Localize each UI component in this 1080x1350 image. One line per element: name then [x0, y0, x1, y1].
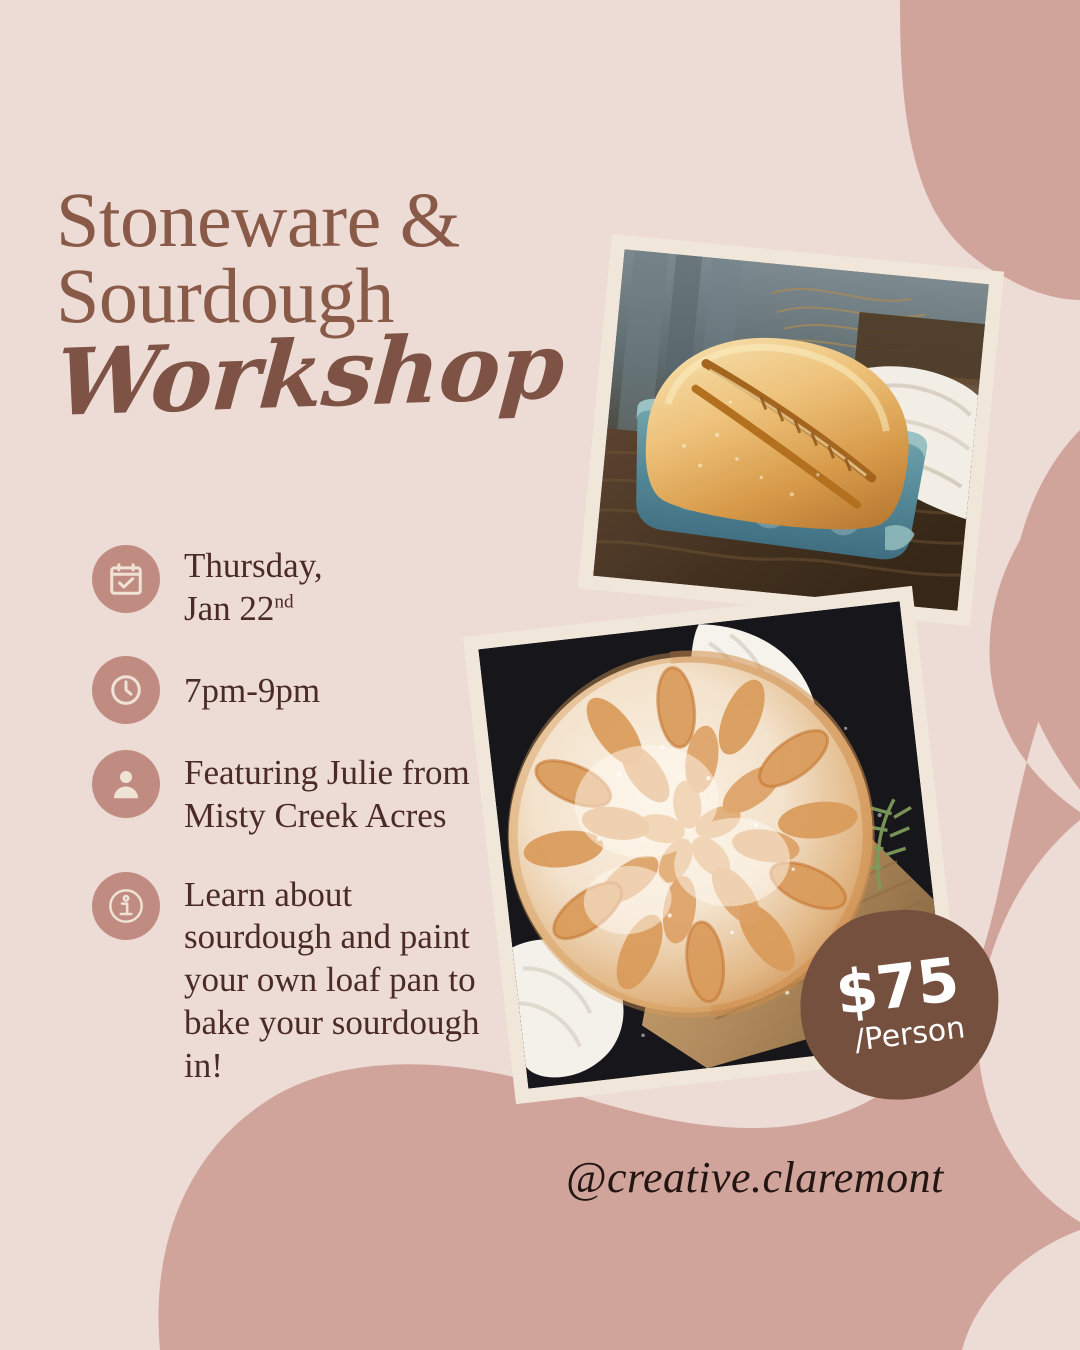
detail-row-info: Learn about sourdough and paint your own…	[92, 872, 522, 1087]
headline-block: Stoneware & Sourdough Workshop	[56, 182, 576, 429]
detail-row-host: Featuring Julie from Misty Creek Acres	[92, 750, 522, 837]
price-badge-text: $75 /Person	[787, 896, 1011, 1111]
detail-host-text: Featuring Julie from Misty Creek Acres	[184, 750, 514, 837]
detail-row-time: 7pm-9pm	[92, 656, 522, 724]
detail-date-day: Jan 22	[184, 589, 274, 628]
detail-date-text: Thursday, Jan 22nd	[184, 545, 323, 630]
bg-sweep-bottom-right-2	[962, 1230, 1080, 1350]
clock-icon	[92, 656, 160, 724]
headline-script-workshop: Workshop	[53, 319, 581, 429]
calendar-check-icon	[92, 545, 160, 613]
photo-loaf-in-stoneware-pan	[578, 234, 1004, 626]
rose-blob-top-right-b	[900, 0, 1080, 291]
photo-loaf-in-stoneware-pan-image	[593, 249, 989, 611]
detail-date-line-1: Thursday,	[184, 545, 323, 588]
poster-canvas: Stoneware & Sourdough Workshop	[0, 0, 1080, 1350]
detail-date-line-2: Jan 22nd	[184, 588, 323, 631]
stoneware-pan-illustration	[593, 249, 989, 611]
rose-blob-right-edge	[1012, 430, 1080, 790]
rose-blob-top-right	[920, 0, 1080, 300]
headline-line-1: Stoneware &	[56, 182, 576, 258]
info-icon	[92, 872, 160, 940]
detail-info-text: Learn about sourdough and paint your own…	[184, 872, 504, 1087]
detail-date-ordinal: nd	[274, 591, 293, 612]
detail-row-date: Thursday, Jan 22nd	[92, 545, 522, 630]
detail-time-text: 7pm-9pm	[184, 656, 320, 713]
details-list: Thursday, Jan 22nd 7pm-9pm Featuring Jul…	[92, 545, 522, 1113]
price-badge: $75 /Person	[798, 908, 1000, 1100]
social-handle: @creative.claremont	[566, 1152, 944, 1203]
person-icon	[92, 750, 160, 818]
